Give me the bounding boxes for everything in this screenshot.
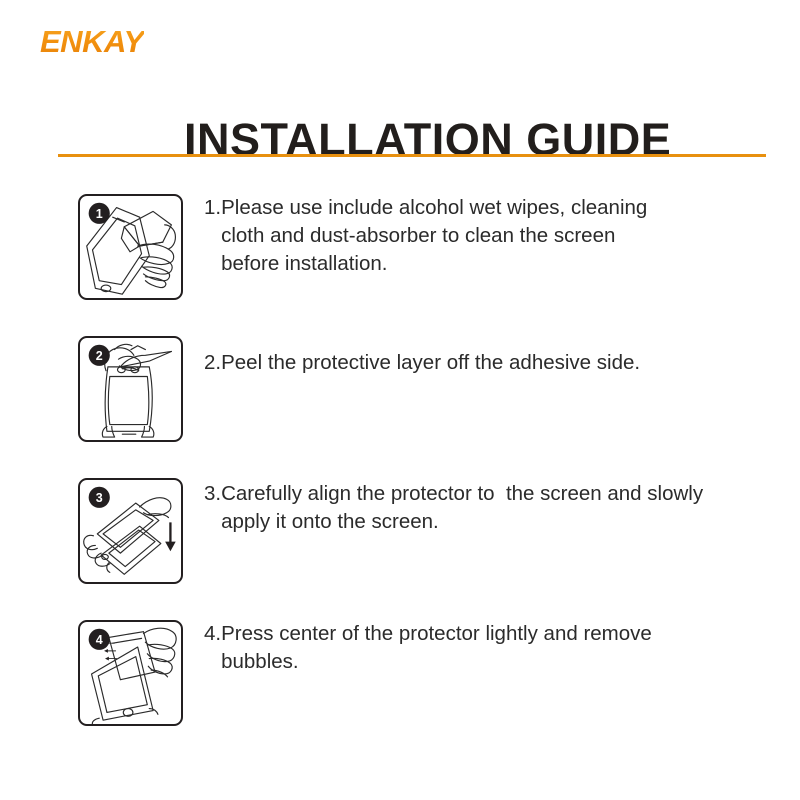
- list-item: 2 2.Peel the protective layer off the ad…: [0, 330, 800, 472]
- step-1-text: 1.Please use include alcohol wet wipes, …: [204, 194, 764, 278]
- header-divider: [58, 154, 766, 157]
- step-4-badge-number: 4: [96, 633, 103, 647]
- step-3-badge-number: 3: [96, 491, 103, 505]
- list-item: 3 3.Carefully align the protector to the…: [0, 472, 800, 614]
- step-3-illustration: 3: [78, 478, 183, 584]
- step-2-illustration: 2: [78, 336, 183, 442]
- enkay-logo: ENKAY: [40, 24, 144, 60]
- step-4-illustration: 4: [78, 620, 183, 726]
- step-3-text: 3.Carefully align the protector to the s…: [204, 480, 764, 536]
- steps-list: 1 1.Please use include alcohol wet wipes…: [0, 188, 800, 756]
- step-2-badge-number: 2: [96, 349, 103, 363]
- step-4-text: 4.Press center of the protector lightly …: [204, 620, 764, 676]
- step-1-badge-number: 1: [96, 207, 103, 221]
- press-center-remove-bubbles-icon: 4: [80, 622, 181, 724]
- peel-protective-layer-icon: 2: [80, 338, 181, 440]
- step-1-illustration: 1: [78, 194, 183, 300]
- down-arrow-icon: [165, 522, 176, 551]
- list-item: 1 1.Please use include alcohol wet wipes…: [0, 188, 800, 330]
- align-protector-down-arrow-icon: 3: [80, 480, 181, 582]
- page-title: INSTALLATION GUIDE: [184, 114, 671, 166]
- step-2-text: 2.Peel the protective layer off the adhe…: [204, 349, 764, 377]
- phone-wipe-cloth-icon: 1: [80, 196, 181, 298]
- list-item: 4 4.Press center of the protector lightl…: [0, 614, 800, 756]
